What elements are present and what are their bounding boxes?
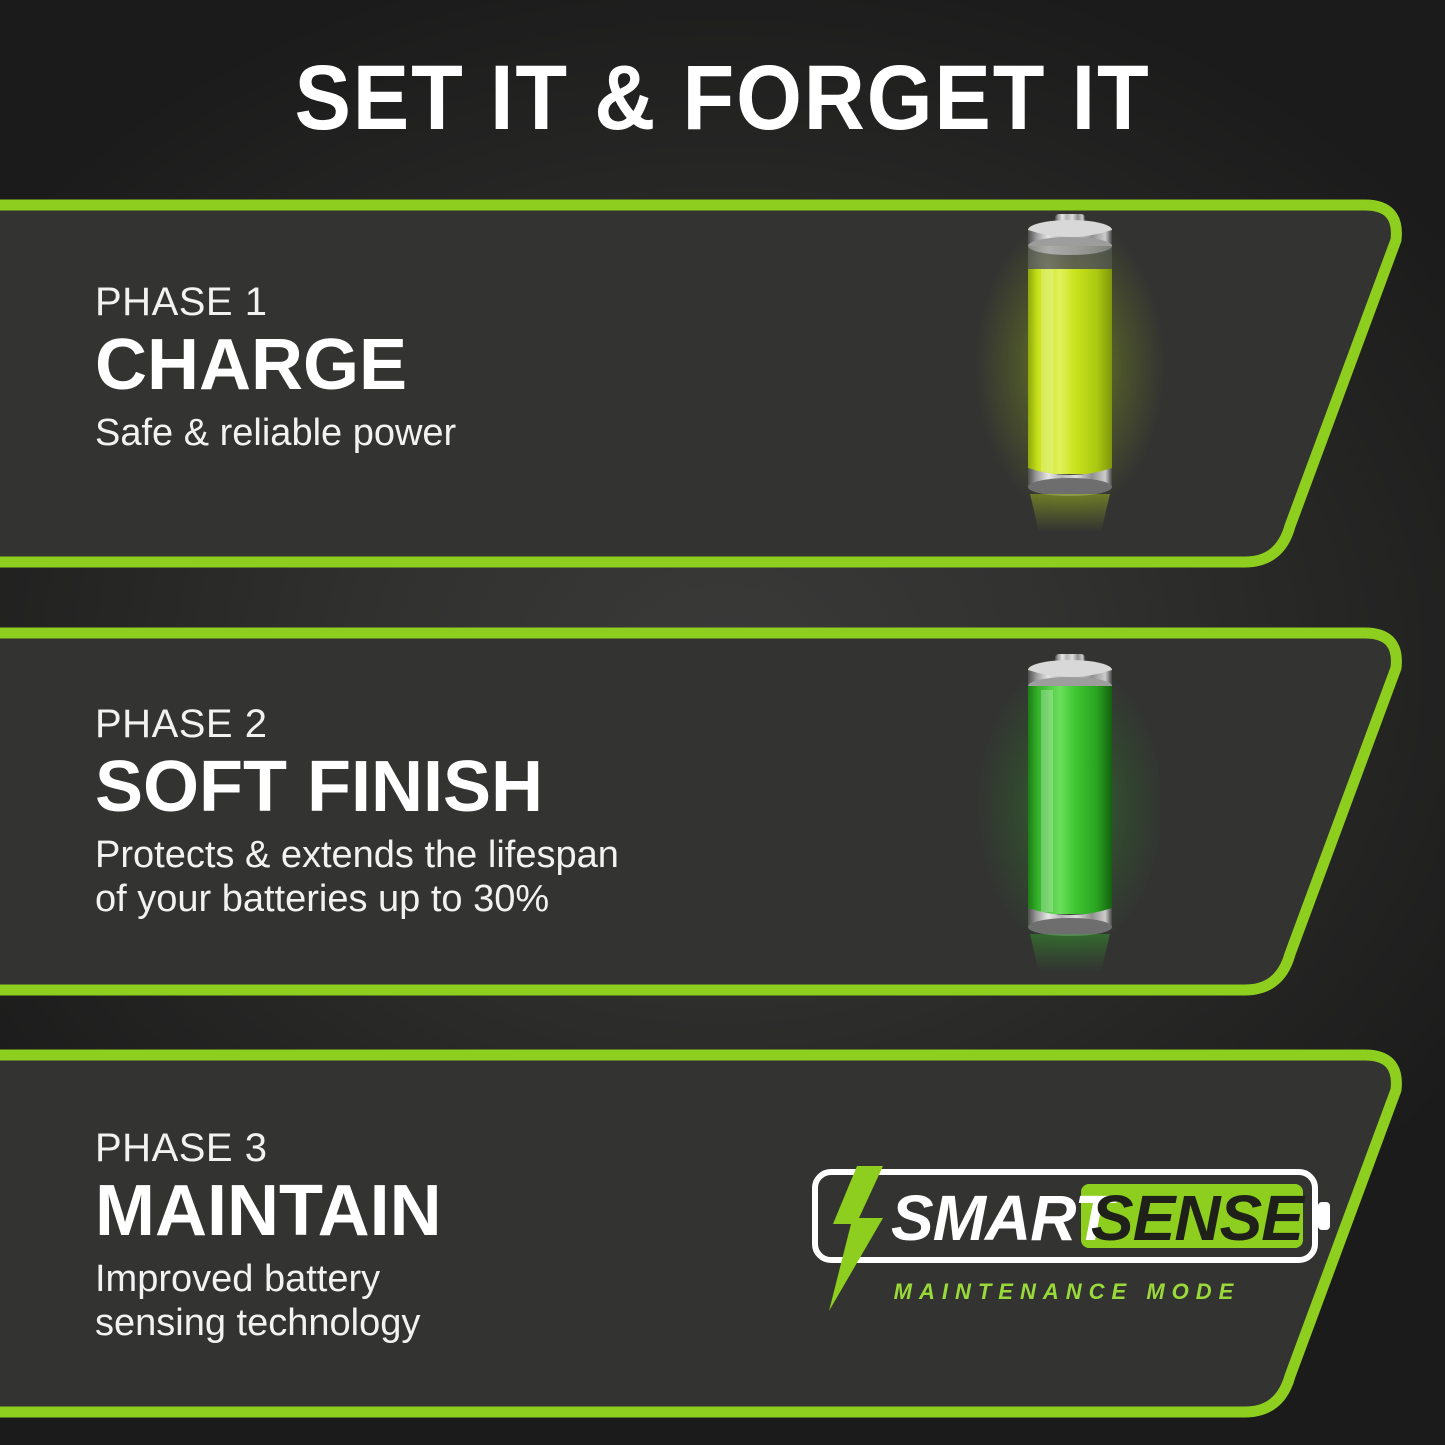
lightning-bolt-icon xyxy=(829,1166,883,1311)
phase-3-title: MAINTAIN xyxy=(95,1173,442,1251)
phase-3-label: PHASE 3 xyxy=(95,1126,442,1171)
phase-2-description: Protects & extends the lifespanof your b… xyxy=(95,833,619,921)
battery-full-icon xyxy=(975,646,1165,976)
battery-reflection xyxy=(1030,934,1110,972)
phase-2-label: PHASE 2 xyxy=(95,702,619,747)
phase-panel-2: PHASE 2 SOFT FINISH Protects & extends t… xyxy=(0,624,1445,999)
phase-2-text-block: PHASE 2 SOFT FINISH Protects & extends t… xyxy=(95,702,619,921)
battery-fill xyxy=(1028,269,1112,474)
page-title: SET IT & FORGET IT xyxy=(58,52,1387,144)
battery-reflection xyxy=(1030,494,1110,532)
battery-charging-icon xyxy=(975,206,1165,536)
phase-1-label: PHASE 1 xyxy=(95,280,456,325)
logo-tagline: MAINTENANCE MODE xyxy=(894,1279,1241,1304)
smartsense-logo: SMART SENSE MAINTENANCE MODE xyxy=(795,1166,1340,1311)
logo-battery-nub xyxy=(1318,1202,1330,1230)
phase-2-title: SOFT FINISH xyxy=(95,749,619,827)
logo-word-smart: SMART xyxy=(891,1182,1118,1254)
phase-3-description: Improved batterysensing technology xyxy=(95,1257,442,1345)
logo-word-sense: SENSE xyxy=(1091,1182,1306,1254)
phase-1-description: Safe & reliable power xyxy=(95,411,456,455)
battery-fill xyxy=(1028,686,1112,914)
phase-3-text-block: PHASE 3 MAINTAIN Improved batterysensing… xyxy=(95,1126,442,1345)
phase-1-title: CHARGE xyxy=(95,327,456,405)
phase-panel-3: PHASE 3 MAINTAIN Improved batterysensing… xyxy=(0,1046,1445,1421)
infographic-root: SET IT & FORGET IT PHASE 1 CHARGE Safe &… xyxy=(0,0,1445,1445)
phase-panel-1: PHASE 1 CHARGE Safe & reliable power xyxy=(0,196,1445,571)
phase-1-text-block: PHASE 1 CHARGE Safe & reliable power xyxy=(95,280,456,455)
